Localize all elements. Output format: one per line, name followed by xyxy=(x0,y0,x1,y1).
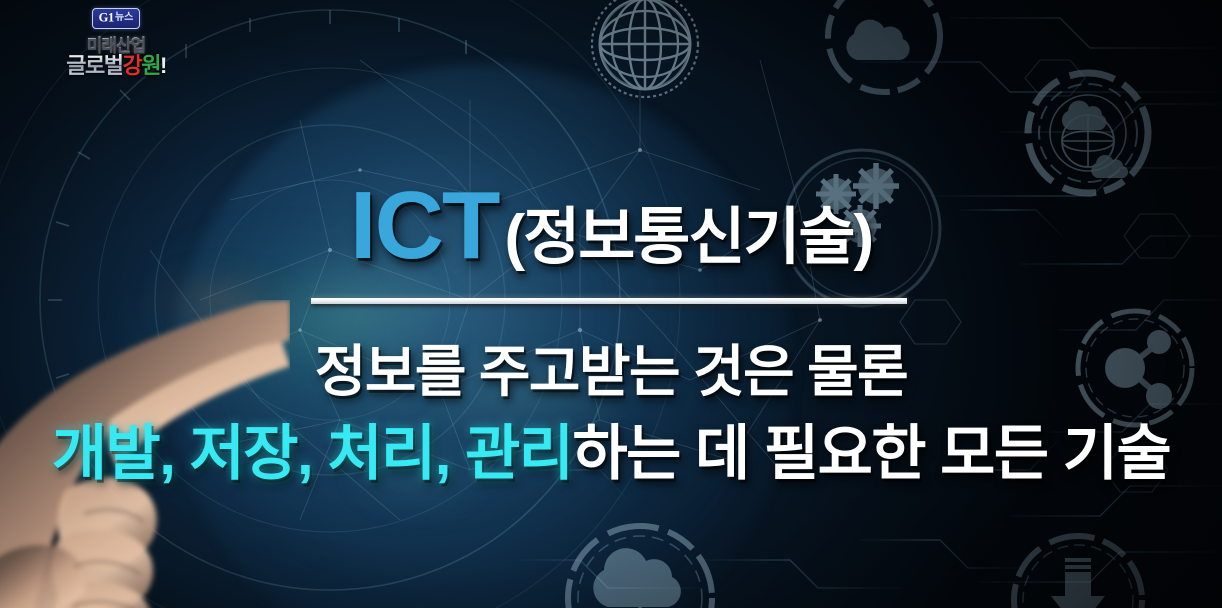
title-divider xyxy=(311,298,907,304)
subtitle-line-2: 개발, 저장, 처리, 관리하는 데 필요한 모든 기술 xyxy=(0,424,1222,484)
subtitle-line-1: 정보를 주고받는 것은 물론 xyxy=(0,344,1222,400)
caption-block: ICT(정보통신기술) 정보를 주고받는 것은 물론 개발, 저장, 처리, 관… xyxy=(0,0,1222,608)
title-expansion: (정보통신기술) xyxy=(505,203,873,272)
title-row: ICT(정보통신기술) xyxy=(0,178,1222,274)
subtitle-line-2-rest: 하는 데 필요한 모든 기술 xyxy=(572,420,1170,487)
broadcast-graphic-frame: G1뉴스 미래산업 글로벌강원! ICT(정보통신기술) 정보를 주고받는 것은… xyxy=(0,0,1222,608)
title-acronym: ICT xyxy=(350,172,499,279)
subtitle-highlight-text: 개발, 저장, 처리, 관리 xyxy=(52,420,573,487)
subtitle-line-1-text: 정보를 주고받는 것은 물론 xyxy=(315,340,907,403)
